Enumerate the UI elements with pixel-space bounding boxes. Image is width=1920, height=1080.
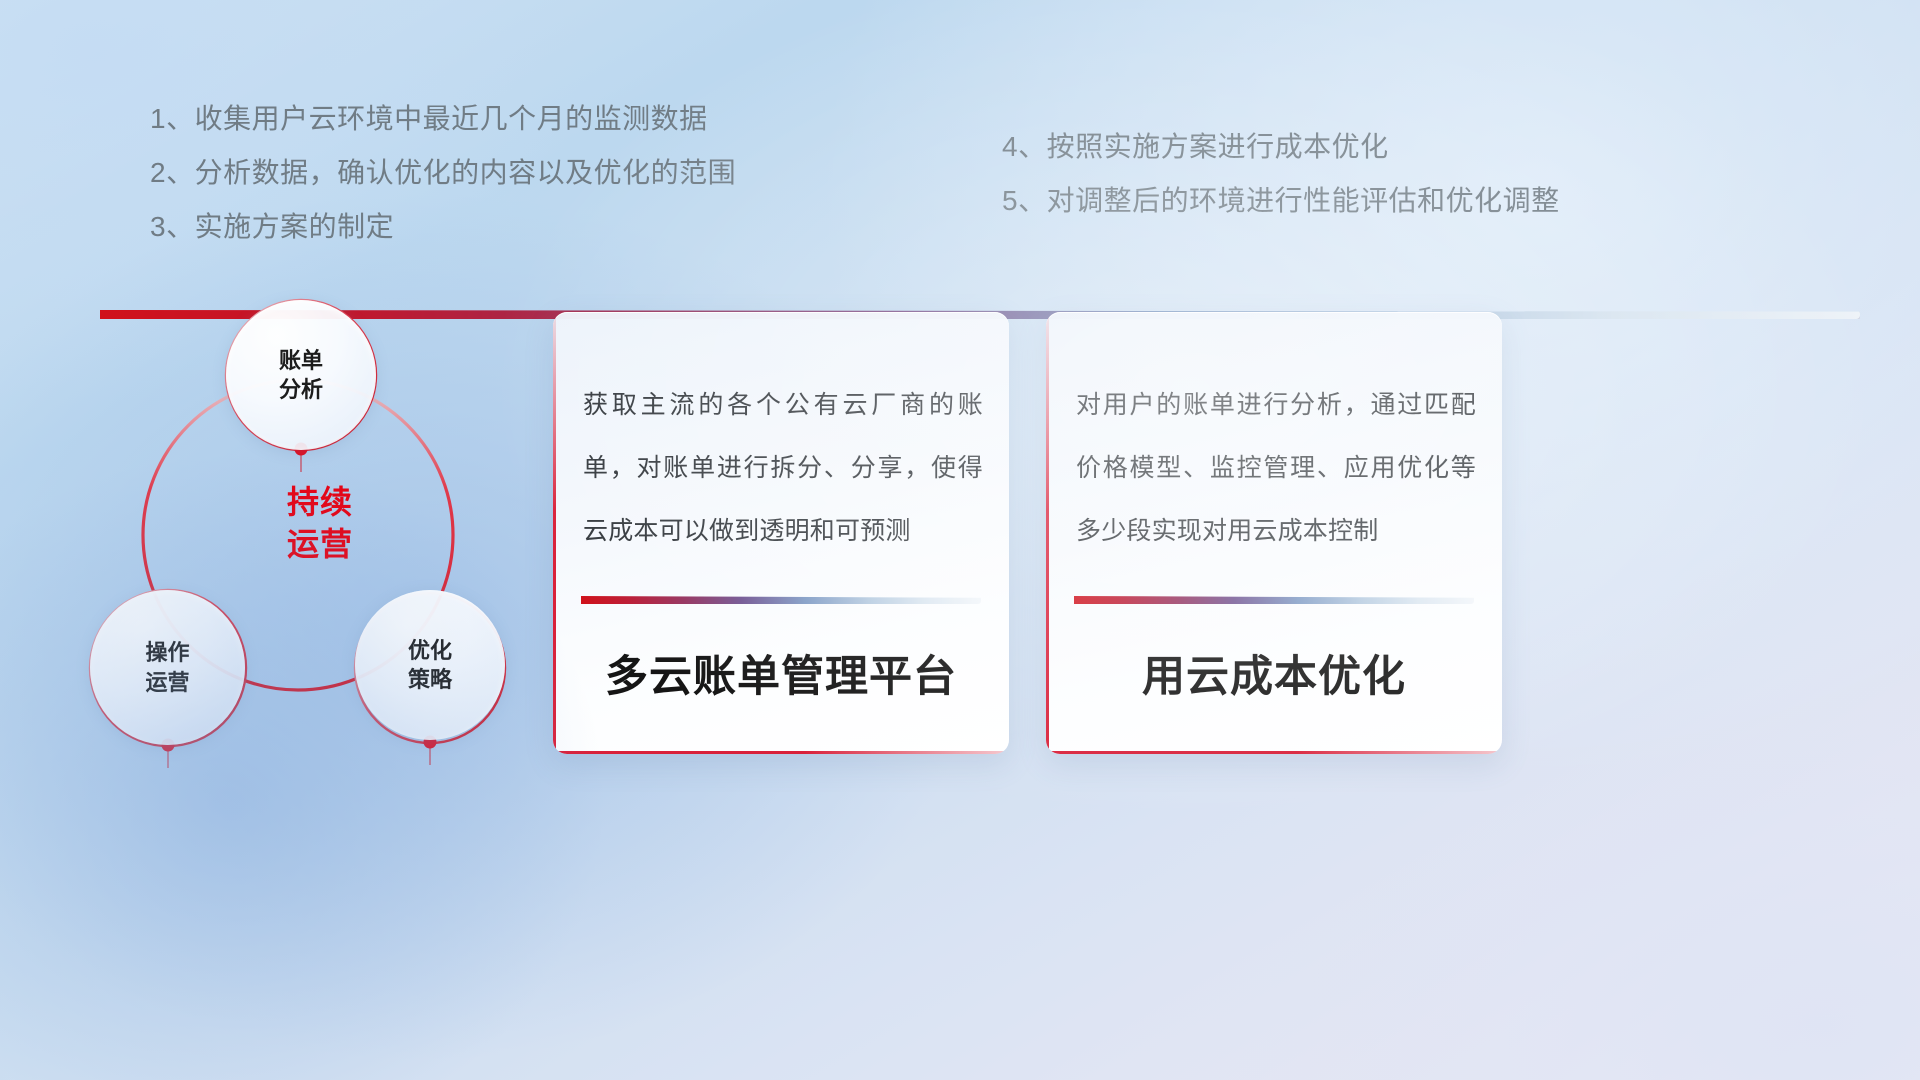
center-label-line2: 运营 — [80, 524, 560, 566]
card-cloud-cost-optimization[interactable]: 对用户的账单进行分析，通过匹配价格模型、监控管理、应用优化等多少段实现对用云成本… — [1046, 312, 1502, 754]
steps-section: 1、收集用户云环境中最近几个月的监测数据 2、分析数据，确认优化的内容以及优化的… — [0, 0, 1920, 300]
bubble-operations[interactable]: 操作 运营 — [90, 590, 245, 745]
bubble-label-line1: 优化 — [408, 636, 452, 665]
steps-right-column: 4、按照实施方案进行成本优化 5、对调整后的环境进行性能评估和优化调整 — [1002, 120, 1560, 228]
card-body-text: 获取主流的各个公有云厂商的账单，对账单进行拆分、分享，使得云成本可以做到透明和可… — [583, 374, 983, 563]
step-item-4: 4、按照实施方案进行成本优化 — [1002, 120, 1560, 174]
bubble-bill-analysis[interactable]: 账单 分析 — [226, 300, 376, 450]
bubble-label-line2: 运营 — [145, 668, 189, 697]
venn-diagram: 账单 分析 操作 运营 优化 策略 持续 运营 — [80, 290, 560, 780]
card-accent-rule — [1074, 596, 1474, 604]
bubble-label-line2: 策略 — [408, 665, 452, 694]
step-item-3: 3、实施方案的制定 — [150, 200, 736, 254]
bubble-label-line1: 操作 — [145, 638, 189, 667]
card-accent-rule — [581, 596, 981, 604]
center-label-line1: 持续 — [80, 482, 560, 524]
venn-center-label: 持续 运营 — [80, 482, 560, 565]
card-body-text: 对用户的账单进行分析，通过匹配价格模型、监控管理、应用优化等多少段实现对用云成本… — [1076, 374, 1476, 563]
step-item-1: 1、收集用户云环境中最近几个月的监测数据 — [150, 92, 736, 146]
step-item-5: 5、对调整后的环境进行性能评估和优化调整 — [1002, 174, 1560, 228]
bubble-optimization-strategy[interactable]: 优化 策略 — [355, 590, 505, 740]
step-item-2: 2、分析数据，确认优化的内容以及优化的范围 — [150, 146, 736, 200]
card-title: 多云账单管理平台 — [553, 642, 1009, 704]
steps-left-column: 1、收集用户云环境中最近几个月的监测数据 2、分析数据，确认优化的内容以及优化的… — [150, 92, 736, 254]
card-title: 用云成本优化 — [1046, 642, 1502, 704]
bubble-label-line1: 账单 — [279, 346, 323, 375]
slide-canvas: 1、收集用户云环境中最近几个月的监测数据 2、分析数据，确认优化的内容以及优化的… — [0, 0, 1920, 1080]
card-multicloud-billing-platform[interactable]: 获取主流的各个公有云厂商的账单，对账单进行拆分、分享，使得云成本可以做到透明和可… — [553, 312, 1009, 754]
bubble-label-line2: 分析 — [279, 375, 323, 404]
